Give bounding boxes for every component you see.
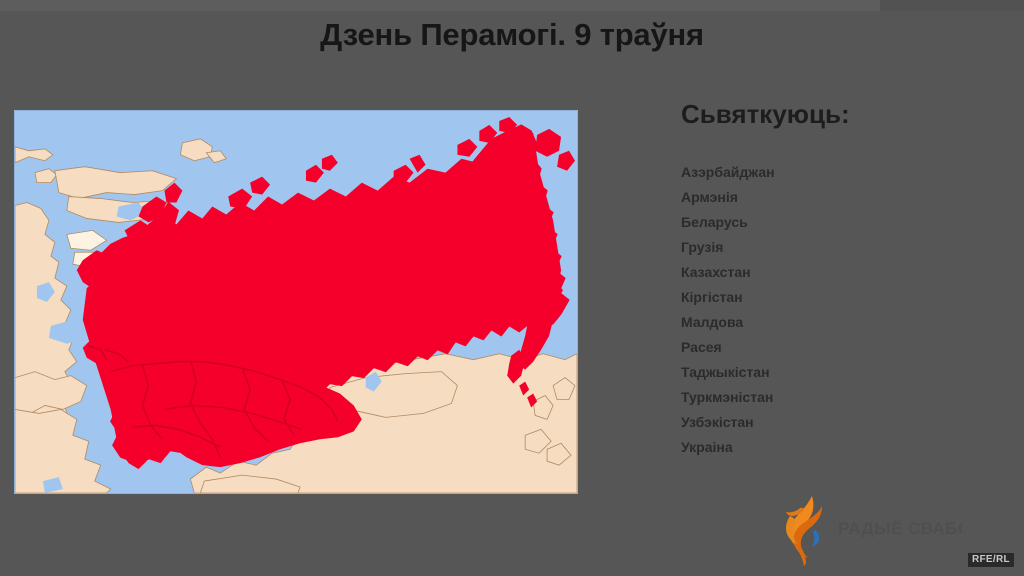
list-item: Казахстан (681, 260, 775, 285)
list-item: Беларусь (681, 210, 775, 235)
list-item: Армэнія (681, 185, 775, 210)
watermark-badge: RFE/RL (968, 553, 1014, 567)
list-item: Туркмэністан (681, 385, 775, 410)
list-item: Узбэкістан (681, 410, 775, 435)
slide-root: Дзень Перамогі. 9 траўня (0, 0, 1024, 576)
list-item: Малдова (681, 310, 775, 335)
brand-logo: РАДЫЁ СВАБОДА (782, 494, 962, 566)
logo-wordmark: РАДЫЁ СВАБОДА (838, 516, 962, 542)
top-edge-band (0, 0, 1024, 11)
rfe-rl-flame-icon (782, 494, 838, 566)
list-item: Расея (681, 335, 775, 360)
list-item: Кіргістан (681, 285, 775, 310)
list-item: Азэрбайджан (681, 160, 775, 185)
list-item: Грузія (681, 235, 775, 260)
top-edge-band-right (880, 0, 1024, 11)
list-item: Таджыкістан (681, 360, 775, 385)
list-item: Украіна (681, 435, 775, 460)
country-list: Азэрбайджан Армэнія Беларусь Грузія Каза… (681, 160, 775, 460)
map-svg (15, 111, 577, 493)
map-image (14, 110, 578, 494)
list-heading: Сьвяткуюць: (681, 98, 850, 130)
page-title: Дзень Перамогі. 9 траўня (0, 16, 1024, 54)
